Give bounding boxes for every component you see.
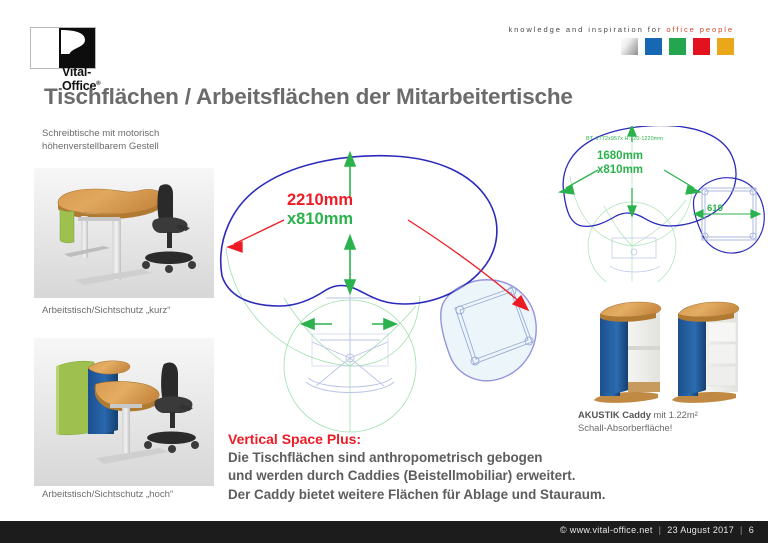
swatch-blue xyxy=(645,38,662,55)
mini-dimension-label: 1680mm x810mm xyxy=(597,150,643,177)
logo: Vital-Office® xyxy=(30,27,96,69)
photo-hoch-caption: Arbeitstisch/Sichtschutz „hoch“ xyxy=(42,489,173,500)
left-intro-line1: Schreibtische mit motorisch xyxy=(42,128,159,141)
bottom-text-heading: Vertical Space Plus: xyxy=(228,430,606,449)
footer-bar: © www.vital-office.net|23 August 2017|6 xyxy=(0,521,768,543)
bottom-text-line1: Die Tischflächen sind anthropometrisch g… xyxy=(228,449,606,468)
mini-cad-diagram xyxy=(552,126,768,286)
page-title: Tischflächen / Arbeitsflächen der Mitarb… xyxy=(44,84,573,110)
swatch-green xyxy=(669,38,686,55)
mini-spec-text: BT. 1772x957x H:720-1220mm xyxy=(586,136,663,142)
tagline-main: knowledge and inspiration for xyxy=(508,25,666,34)
caddy-caption-line1: AKUSTIK Caddy mit 1.22m² xyxy=(578,409,698,422)
footer-text: © www.vital-office.net|23 August 2017|6 xyxy=(560,525,754,535)
main-dim-width: 2210mm xyxy=(287,191,353,210)
footer-separator-1: | xyxy=(653,525,668,535)
caddy-caption-rest: mit 1.22m² xyxy=(651,409,698,420)
brand-swatches xyxy=(621,38,734,55)
photo-desk-kurz xyxy=(34,168,214,298)
footer-page-number: 6 xyxy=(749,525,754,535)
swatch-yellow xyxy=(717,38,734,55)
slide-root: Vital-Office® knowledge and inspiration … xyxy=(0,0,768,543)
caddy-caption-bold: AKUSTIK Caddy xyxy=(578,409,651,420)
bottom-text-line2: und werden durch Caddies (Beistellmobili… xyxy=(228,467,606,486)
caddy-dimension-label: 619 xyxy=(707,203,723,214)
mini-dim-width: 1680mm xyxy=(597,150,643,164)
vital-office-logo-icon xyxy=(31,28,95,68)
bottom-text-line3: Der Caddy bietet weitere Flächen für Abl… xyxy=(228,486,606,505)
tagline-accent: office people xyxy=(666,25,734,34)
swatch-red xyxy=(693,38,710,55)
left-intro-line2: höhenverstellbarem Gestell xyxy=(42,141,159,154)
footer-date: 23 August 2017 xyxy=(667,525,734,535)
swatch-silver xyxy=(621,38,638,55)
main-cad-diagram xyxy=(212,128,578,433)
main-dimension-label: 2210mm x810mm xyxy=(287,191,353,229)
mini-dim-depth: x810mm xyxy=(597,164,643,178)
photo-kurz-caption: Arbeitstisch/Sichtschutz „kurz“ xyxy=(42,305,171,316)
left-intro-text: Schreibtische mit motorisch höhenverstel… xyxy=(42,128,159,153)
header-tagline: knowledge and inspiration for office peo… xyxy=(508,25,734,34)
footer-copyright: © www.vital-office.net xyxy=(560,525,653,535)
photo-desk-hoch xyxy=(34,338,214,486)
footer-separator-2: | xyxy=(734,525,749,535)
bottom-text-block: Vertical Space Plus: Die Tischflächen si… xyxy=(228,430,606,504)
photo-akustik-caddy xyxy=(578,282,758,408)
main-dim-depth: x810mm xyxy=(287,210,353,229)
